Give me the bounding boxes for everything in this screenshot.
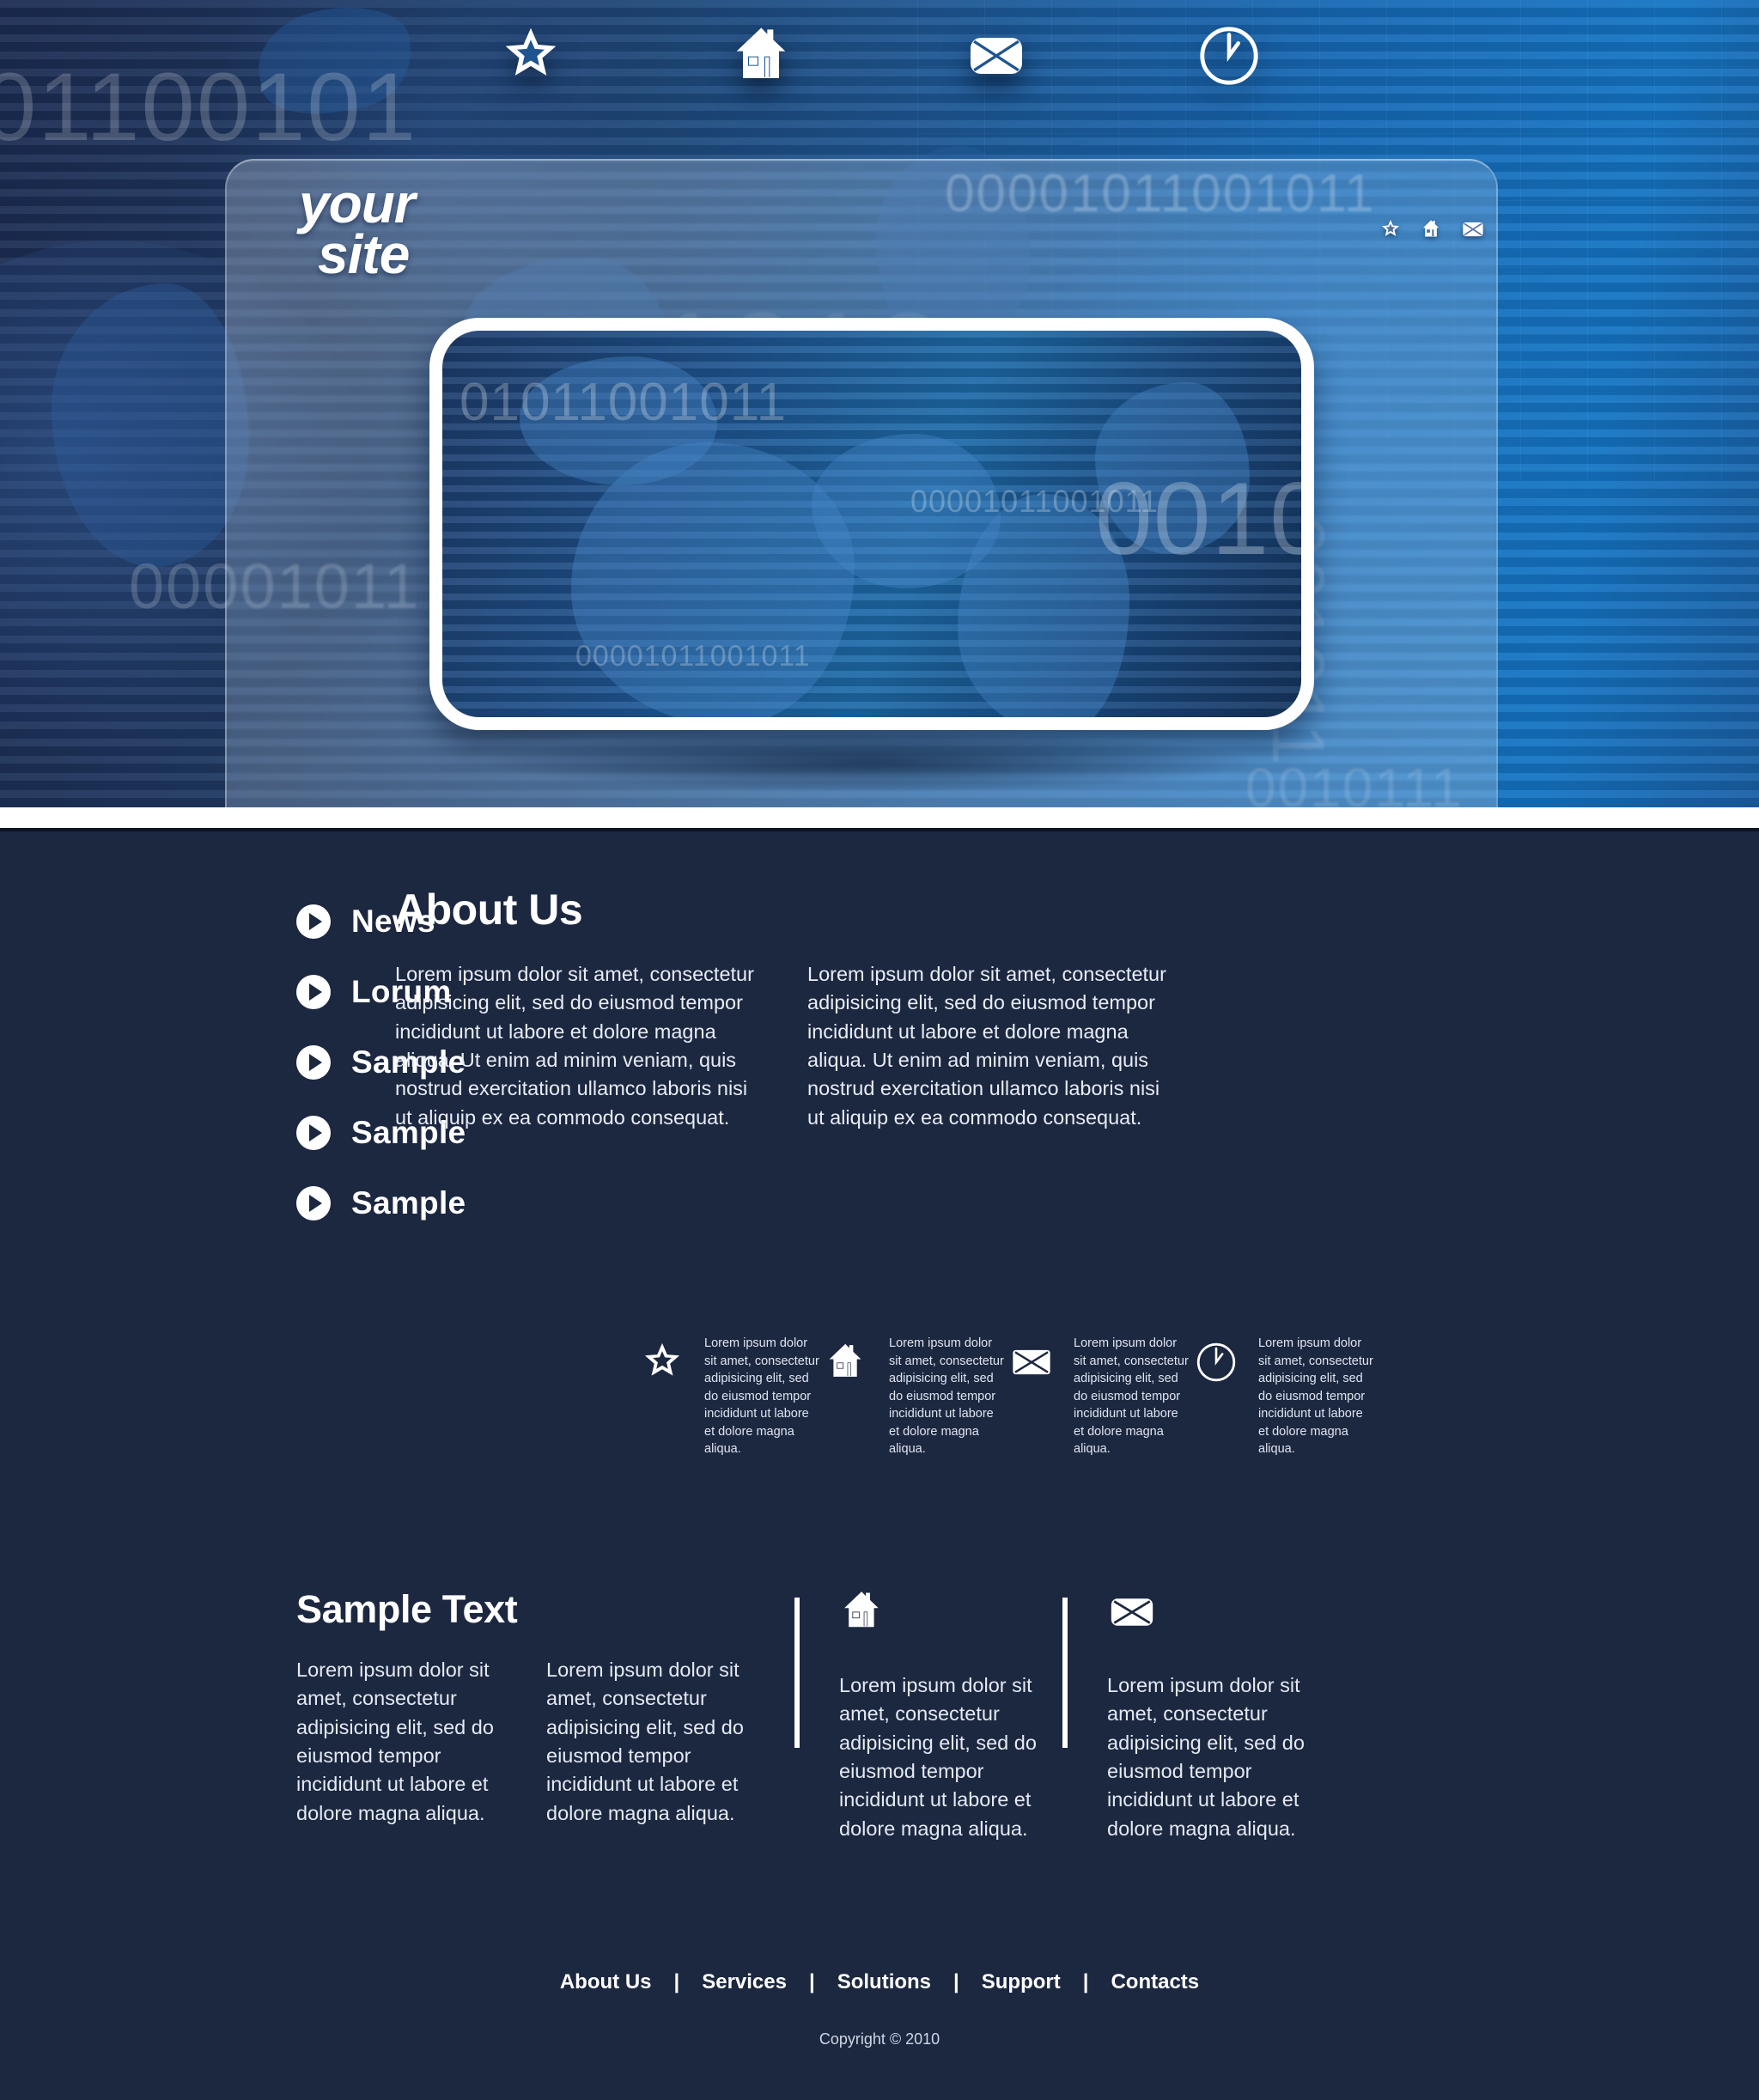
sidebar-item-sample-3[interactable]: Sample	[296, 1185, 395, 1221]
sample-text-right: Lorem ipsum dolor sit amet, consectetur …	[794, 1587, 1330, 1843]
footer-link-services[interactable]: Services	[679, 1970, 809, 1994]
about-us-paragraph: Lorem ipsum dolor sit amet, consectetur …	[807, 960, 1168, 1132]
feature-item-envelope[interactable]: Lorem ipsum dolor sit amet, consectetur …	[1005, 1335, 1190, 1458]
envelope-icon	[1005, 1335, 1058, 1385]
copyright-text: Copyright © 2010	[0, 2030, 1759, 2100]
top-icon-bar[interactable]	[0, 19, 1759, 93]
feature-item-clock[interactable]: Lorem ipsum dolor sit amet, consectetur …	[1190, 1335, 1374, 1458]
sample-column-text: Lorem ipsum dolor sit amet, consectetur …	[1107, 1671, 1330, 1843]
content-top-row: News Lorum Sample Sample Sample About Us	[0, 885, 1759, 1256]
house-icon[interactable]	[1419, 216, 1445, 242]
sidebar-item-lorum[interactable]: Lorum	[296, 974, 395, 1010]
vertical-divider	[794, 1598, 800, 1748]
play-arrow-icon	[296, 1045, 331, 1080]
sample-paragraph: Lorem ipsum dolor sit amet, consectetur …	[296, 1656, 510, 1828]
clock-icon[interactable]	[1192, 19, 1266, 93]
house-icon	[820, 1335, 873, 1385]
sample-paragraph: Lorem ipsum dolor sit amet, consectetur …	[546, 1656, 760, 1828]
display-drop-shadow	[481, 732, 1263, 792]
sample-text-left: Sample Text Lorem ipsum dolor sit amet, …	[296, 1587, 760, 1828]
star-icon[interactable]	[1378, 216, 1403, 242]
star-icon[interactable]	[494, 19, 568, 93]
feature-text: Lorem ipsum dolor sit amet, consectetur …	[1258, 1335, 1374, 1458]
about-us-section: About Us Lorem ipsum dolor sit amet, con…	[395, 885, 1759, 1256]
footer-separator: |	[1083, 1970, 1089, 1994]
sample-column-house[interactable]: Lorem ipsum dolor sit amet, consectetur …	[794, 1587, 1062, 1843]
sample-text-columns: Lorem ipsum dolor sit amet, consectetur …	[296, 1656, 760, 1828]
hero-display-screen: 01011001011 00001011001011 0000101100101…	[429, 318, 1314, 730]
sidebar-item-news[interactable]: News	[296, 904, 395, 940]
play-arrow-icon	[296, 1186, 331, 1220]
logo-line-2: site	[299, 229, 415, 280]
footer-link-support[interactable]: Support	[959, 1970, 1083, 1994]
panel-mini-icon-bar[interactable]	[1378, 216, 1486, 242]
feature-item-house[interactable]: Lorem ipsum dolor sit amet, consectetur …	[820, 1335, 1005, 1458]
sample-column-envelope[interactable]: Lorem ipsum dolor sit amet, consectetur …	[1062, 1587, 1330, 1843]
binary-text: 0010	[1095, 460, 1314, 578]
world-map-shape	[52, 283, 249, 567]
star-icon	[636, 1335, 689, 1385]
footer-link-contacts[interactable]: Contacts	[1088, 1970, 1221, 1994]
hero-bottom-divider	[0, 807, 1759, 831]
feature-text: Lorem ipsum dolor sit amet, consectetur …	[704, 1335, 820, 1458]
envelope-icon	[1107, 1587, 1330, 1642]
side-navigation[interactable]: News Lorum Sample Sample Sample	[0, 885, 395, 1256]
sample-column-text: Lorem ipsum dolor sit amet, consectetur …	[839, 1671, 1062, 1843]
sample-column-body: Lorem ipsum dolor sit amet, consectetur …	[831, 1587, 1062, 1843]
house-icon	[839, 1587, 1062, 1642]
about-us-columns: Lorem ipsum dolor sit amet, consectetur …	[395, 960, 1656, 1132]
feature-text: Lorem ipsum dolor sit amet, consectetur …	[1074, 1335, 1190, 1458]
hero-banner: 01100101 00001011001011 00001011 001011 …	[0, 0, 1759, 831]
sample-text-title: Sample Text	[296, 1587, 760, 1632]
binary-text: 01011001011	[460, 372, 787, 433]
sidebar-item-sample-1[interactable]: Sample	[296, 1044, 395, 1080]
feature-item-star[interactable]: Lorem ipsum dolor sit amet, consectetur …	[636, 1335, 820, 1458]
page-body: News Lorum Sample Sample Sample About Us	[0, 831, 1759, 2100]
envelope-icon[interactable]	[1460, 216, 1486, 242]
play-arrow-icon	[296, 975, 331, 1009]
house-icon[interactable]	[727, 19, 800, 93]
footer-link-bar[interactable]: About Us | Services | Solutions | Suppor…	[0, 1970, 1759, 1994]
about-us-title: About Us	[395, 885, 1656, 934]
sample-text-section: Sample Text Lorem ipsum dolor sit amet, …	[0, 1458, 1759, 1843]
play-arrow-icon	[296, 1116, 331, 1150]
binary-text: 00001011001011	[575, 640, 811, 673]
footer-separator: |	[674, 1970, 680, 1994]
footer-separator: |	[953, 1970, 959, 1994]
site-logo[interactable]: your site	[299, 179, 415, 280]
feature-strip: Lorem ipsum dolor sit amet, consectetur …	[0, 1256, 1759, 1458]
hero-display-frame: 01011001011 00001011001011 0000101100101…	[429, 318, 1314, 730]
envelope-icon[interactable]	[959, 19, 1033, 93]
sidebar-item-sample-2[interactable]: Sample	[296, 1115, 395, 1151]
clock-icon	[1190, 1335, 1243, 1385]
footer-link-about-us[interactable]: About Us	[538, 1970, 674, 1994]
play-arrow-icon	[296, 904, 331, 939]
page-footer: About Us | Services | Solutions | Suppor…	[0, 1843, 1759, 2100]
sample-column-body: Lorem ipsum dolor sit amet, consectetur …	[1099, 1587, 1330, 1843]
vertical-divider	[1062, 1598, 1068, 1748]
logo-line-1: your	[299, 179, 415, 229]
feature-text: Lorem ipsum dolor sit amet, consectetur …	[889, 1335, 1005, 1458]
about-us-paragraph: Lorem ipsum dolor sit amet, consectetur …	[395, 960, 756, 1132]
footer-separator: |	[809, 1970, 815, 1994]
footer-link-solutions[interactable]: Solutions	[815, 1970, 953, 1994]
